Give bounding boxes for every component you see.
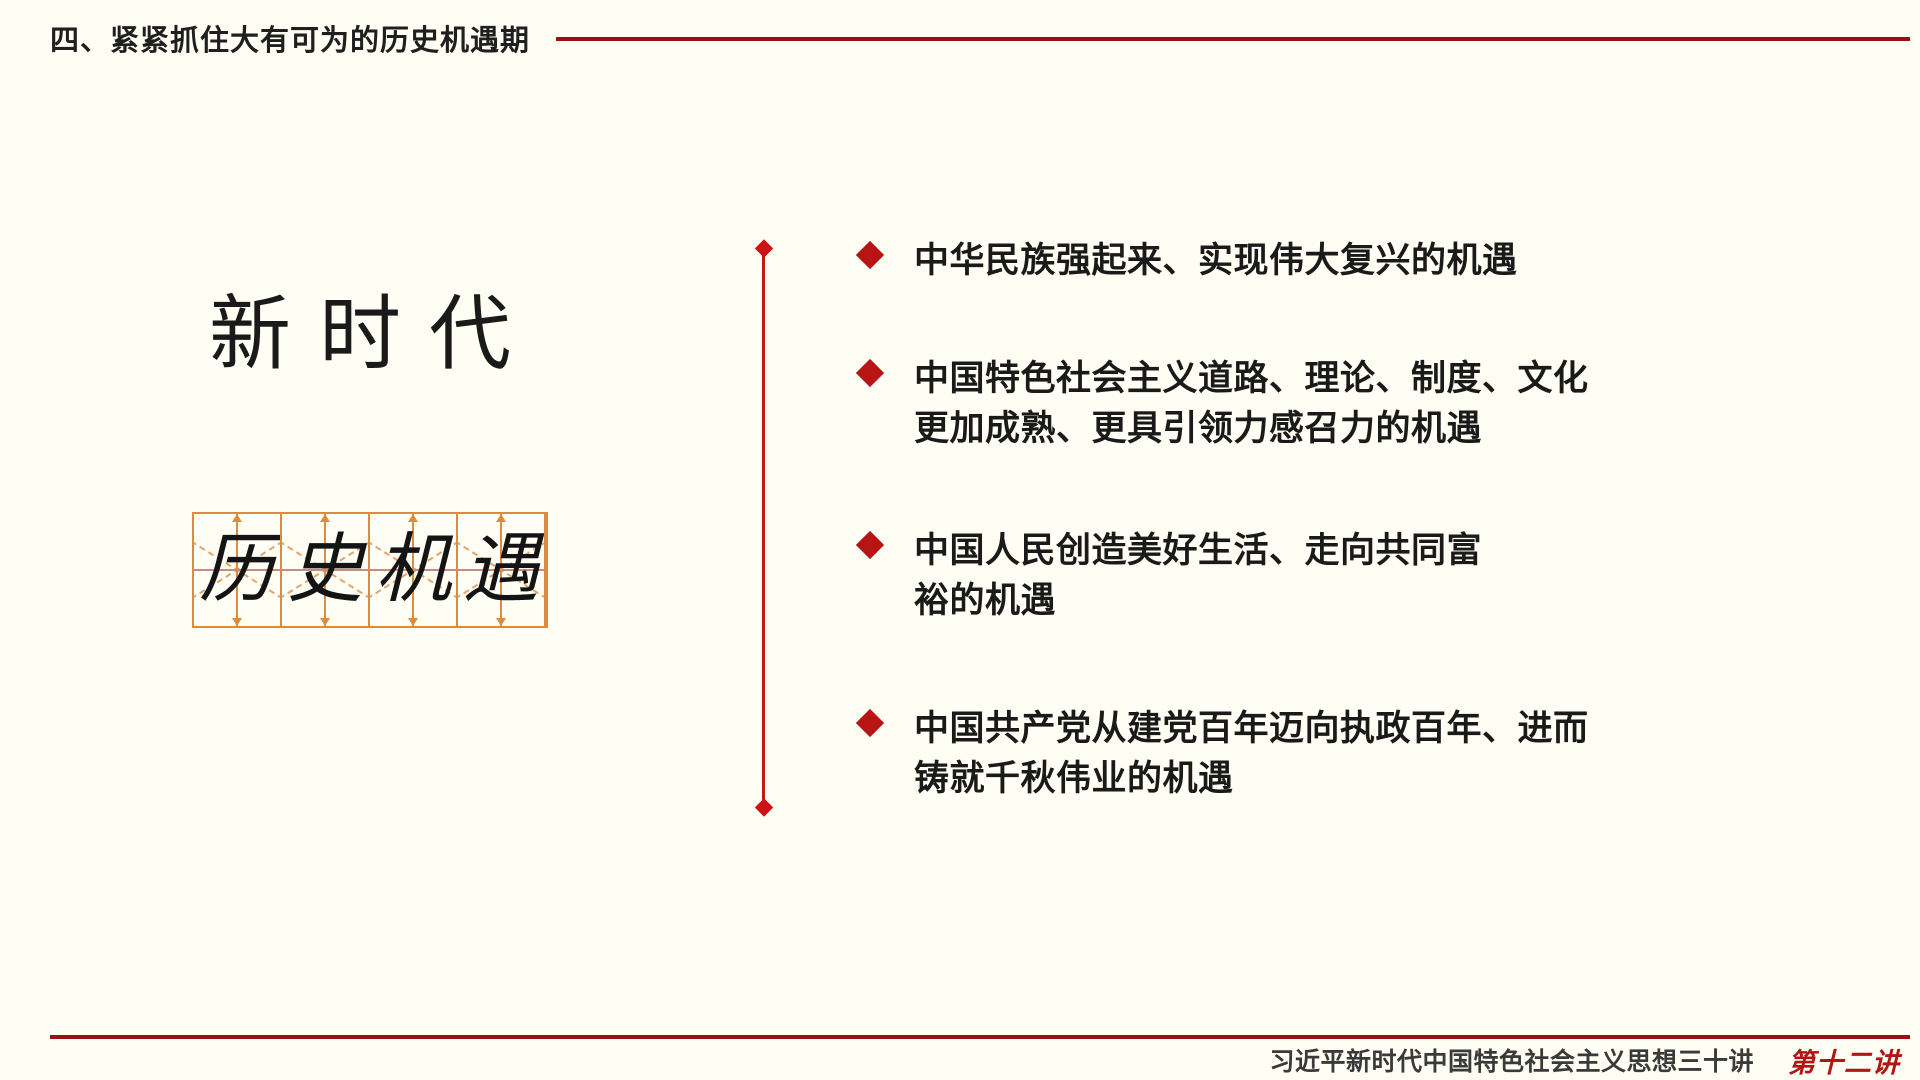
grid-character: 历 bbox=[194, 514, 280, 626]
list-item-label: 中国人民创造美好生活、走向共同富 裕的机遇 bbox=[914, 526, 1482, 625]
era-title: 新时代 bbox=[150, 290, 570, 380]
character-grid-wrapper: 历 史 机 bbox=[192, 512, 548, 628]
list-item-label: 中华民族强起来、实现伟大复兴的机遇 bbox=[914, 236, 1518, 286]
diamond-cap-top-icon bbox=[754, 239, 772, 257]
vertical-connector-line bbox=[762, 248, 765, 808]
header-divider-rule bbox=[556, 37, 1910, 41]
slide-canvas: 四、紧紧抓住大有可为的历史机遇期 新时代 历 bbox=[0, 0, 1920, 1080]
diamond-bullet-icon bbox=[856, 241, 884, 269]
grid-cell: 历 bbox=[194, 514, 282, 626]
grid-cell: 机 bbox=[370, 514, 458, 626]
list-item[interactable]: 中国共产党从建党百年迈向执政百年、进而 铸就千秋伟业的机遇 bbox=[860, 704, 1589, 803]
grid-character: 遇 bbox=[458, 514, 544, 626]
calligraphy-block: 新时代 历 史 bbox=[150, 290, 570, 640]
footer-divider-rule bbox=[50, 1035, 1910, 1039]
footer-lecture-label: 第十二讲 bbox=[1788, 1041, 1900, 1080]
grid-cell: 遇 bbox=[458, 514, 546, 626]
slide-footer: 习近平新时代中国特色社会主义思想三十讲 第十二讲 bbox=[50, 1042, 1910, 1078]
diamond-bullet-icon bbox=[856, 531, 884, 559]
footer-series-label: 习近平新时代中国特色社会主义思想三十讲 bbox=[1269, 1042, 1754, 1078]
page-title: 四、紧紧抓住大有可为的历史机遇期 bbox=[50, 17, 530, 59]
mizige-grid: 历 史 机 bbox=[192, 512, 548, 628]
list-item-label: 中国共产党从建党百年迈向执政百年、进而 铸就千秋伟业的机遇 bbox=[914, 704, 1589, 803]
grid-character: 史 bbox=[282, 514, 368, 626]
diamond-bullet-icon bbox=[856, 359, 884, 387]
slide-header: 四、紧紧抓住大有可为的历史机遇期 bbox=[50, 14, 1910, 62]
grid-character: 机 bbox=[370, 514, 456, 626]
list-item-label: 中国特色社会主义道路、理论、制度、文化 更加成熟、更具引领力感召力的机遇 bbox=[914, 354, 1589, 453]
list-item[interactable]: 中国人民创造美好生活、走向共同富 裕的机遇 bbox=[860, 526, 1482, 625]
diamond-cap-bottom-icon bbox=[754, 798, 772, 816]
grid-cell: 史 bbox=[282, 514, 370, 626]
diamond-bullet-icon bbox=[856, 709, 884, 737]
list-item[interactable]: 中国特色社会主义道路、理论、制度、文化 更加成熟、更具引领力感召力的机遇 bbox=[860, 354, 1589, 453]
list-item[interactable]: 中华民族强起来、实现伟大复兴的机遇 bbox=[860, 236, 1518, 286]
